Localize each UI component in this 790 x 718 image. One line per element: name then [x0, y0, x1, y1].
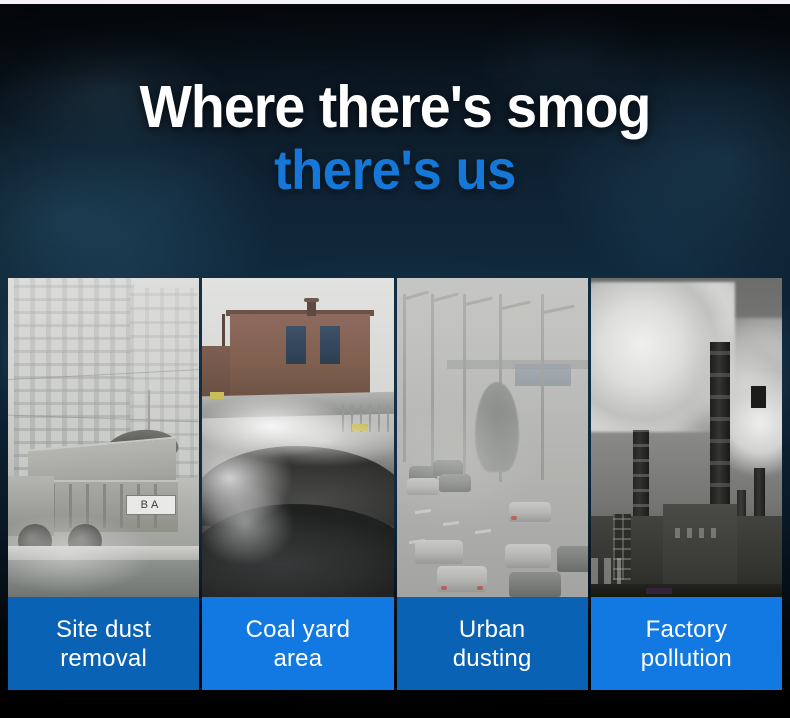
caption-factory-pollution: Factory pollution [591, 597, 782, 690]
caption-coal-yard-area: Coal yard area [202, 597, 393, 690]
caption-line-2: area [273, 645, 322, 672]
photo-site-dust-removal: BA [8, 278, 199, 597]
top-edge-strip [0, 0, 790, 4]
category-card-site-dust-removal[interactable]: BA Site dust removal [8, 278, 199, 690]
caption-site-dust-removal: Site dust removal [8, 597, 199, 690]
photo-urban-dusting [397, 278, 588, 597]
photo-coal-yard-area [202, 278, 393, 597]
category-card-urban-dusting[interactable]: Urban dusting [397, 278, 588, 690]
smog-banner: Where there's smog there's us BA [0, 0, 790, 718]
category-card-factory-pollution[interactable]: Factory pollution [591, 278, 782, 690]
caption-line-1: Factory [646, 616, 727, 643]
caption-line-2: dusting [453, 645, 532, 672]
headline-block: Where there's smog there's us [0, 76, 790, 199]
category-card-strip: BA Site dust removal [8, 278, 782, 690]
caption-urban-dusting: Urban dusting [397, 597, 588, 690]
caption-line-1: Urban [459, 616, 525, 643]
caption-line-2: removal [60, 645, 147, 672]
caption-line-1: Site dust [56, 616, 151, 643]
headline-line-2: there's us [24, 141, 767, 199]
photo-factory-pollution [591, 278, 782, 597]
category-card-coal-yard-area[interactable]: Coal yard area [202, 278, 393, 690]
caption-line-1: Coal yard [246, 616, 351, 643]
headline-line-1: Where there's smog [24, 76, 767, 138]
caption-line-2: pollution [641, 645, 732, 672]
